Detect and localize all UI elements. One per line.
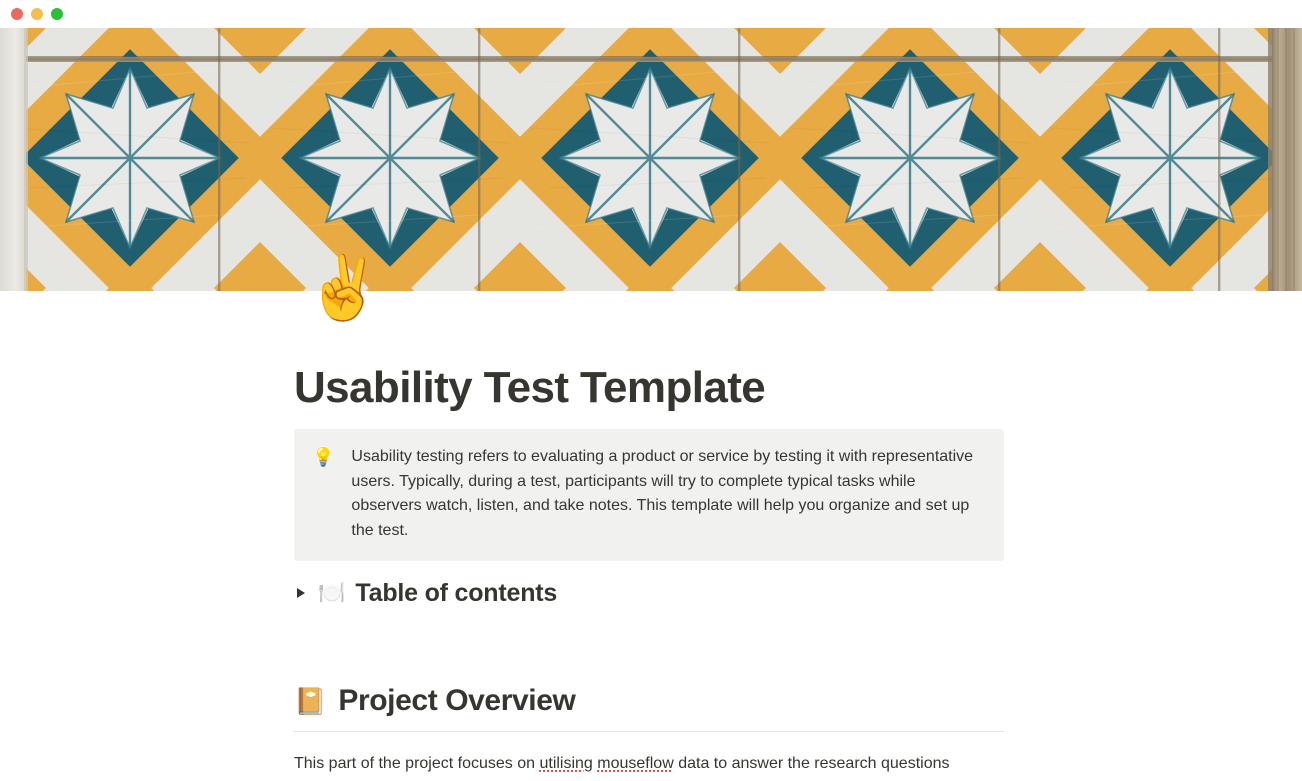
light-bulb-icon: 💡 [312, 445, 334, 469]
page-icon-emoji[interactable]: ✌️ [305, 258, 382, 320]
window-traffic-lights [11, 8, 63, 20]
misspelled-word-mouseflow[interactable]: mouseflow [597, 755, 673, 772]
page-cover-image[interactable] [0, 28, 1302, 291]
close-window-button[interactable] [11, 8, 23, 20]
callout-block[interactable]: 💡 Usability testing refers to evaluating… [294, 429, 1004, 561]
chevron-right-icon[interactable] [294, 583, 308, 603]
azulejo-tile-pattern [0, 28, 1302, 291]
body-paragraph[interactable]: This part of the project focuses on util… [294, 751, 1004, 776]
page-title[interactable]: Usability Test Template [294, 364, 765, 412]
maximize-window-button[interactable] [51, 8, 63, 20]
paragraph-text-part-1: This part of the project focuses on [294, 755, 539, 772]
notebook-icon: 📔 [294, 688, 326, 714]
fork-and-knife-with-plate-icon: 🍽️ [318, 582, 345, 604]
minimize-window-button[interactable] [31, 8, 43, 20]
misspelled-word-utilising[interactable]: utilising [539, 755, 592, 772]
callout-text: Usability testing refers to evaluating a… [351, 445, 986, 543]
page-body: Usability Test Template 💡 Usability test… [0, 291, 1302, 781]
toggle-label: Table of contents [355, 578, 557, 608]
section-heading-project-overview[interactable]: 📔 Project Overview [294, 683, 1004, 719]
section-divider [294, 731, 1004, 732]
toggle-table-of-contents[interactable]: 🍽️ Table of contents [294, 578, 557, 608]
section-title: Project Overview [338, 683, 575, 719]
paragraph-text-part-2: data to answer the research questions [674, 755, 950, 772]
window-titlebar [0, 0, 1302, 28]
